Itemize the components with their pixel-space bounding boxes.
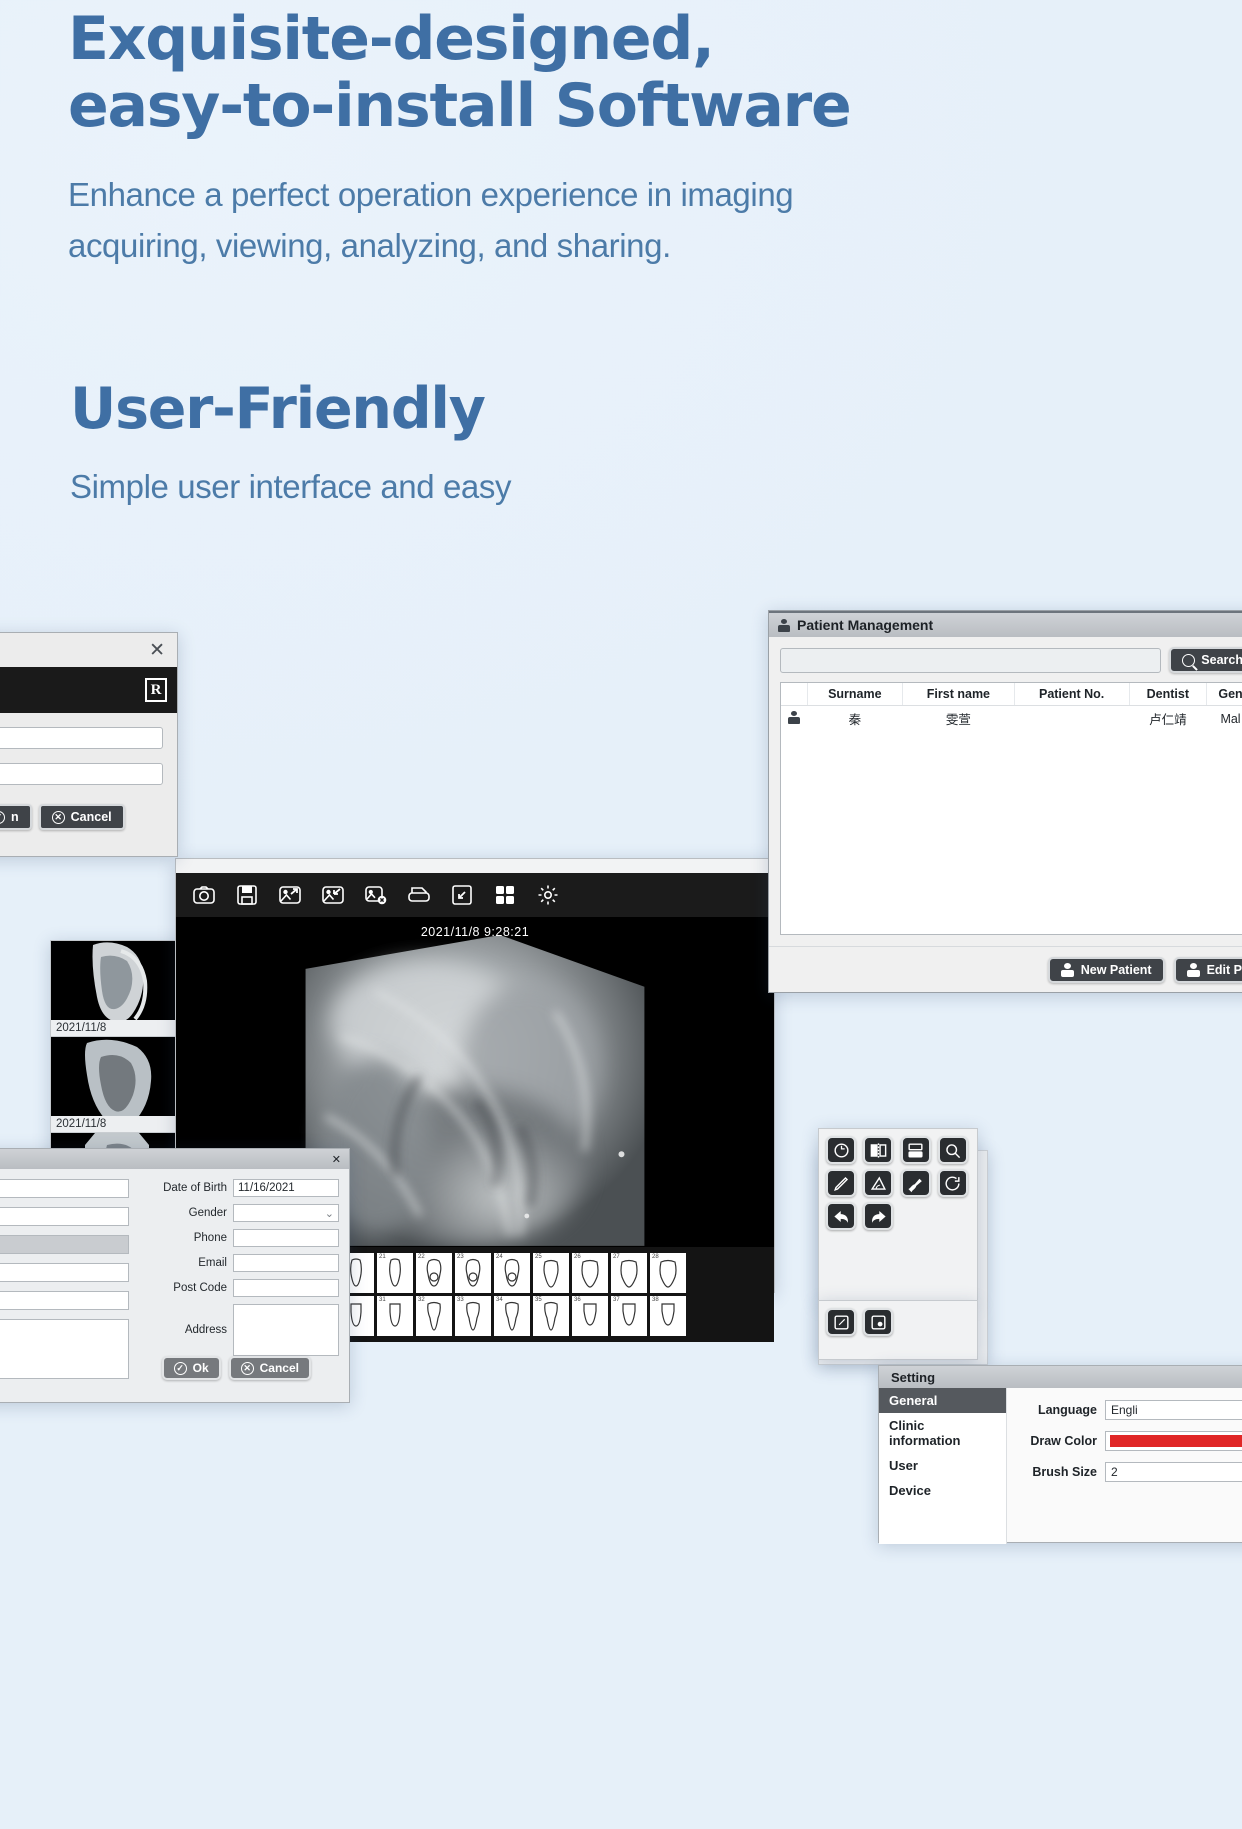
page-title-line2: easy-to-install Software [68,73,1068,140]
tooth-column[interactable]: 28 38 [650,1253,686,1336]
hero-section: Exquisite-designed, easy-to-install Soft… [68,0,1068,271]
cancel-button[interactable]: ✕ Cancel [229,1356,311,1380]
edit-patient-icon [1187,963,1201,977]
page-title-line1: Exquisite-designed, [68,6,1068,73]
undo-icon[interactable] [826,1202,856,1230]
page-title: Exquisite-designed, easy-to-install Soft… [68,0,1068,140]
image-import-icon[interactable] [321,883,345,907]
tool-grid-panel-secondary[interactable] [818,1300,978,1360]
label-phone: Phone [143,1232,227,1244]
cell-first-name: 雯萱 [903,706,1015,732]
tooth-button[interactable]: 22 [416,1253,452,1293]
patient-edit-body: Date of Birth 11/16/2021 Gender Phone Em… [0,1169,349,1379]
tooth-button[interactable]: 25 [533,1253,569,1293]
input-phone[interactable] [233,1229,339,1247]
section-heading-user-friendly: User-Friendly [70,376,485,442]
magnifier-icon [1182,654,1195,667]
person-icon [778,619,790,632]
patient-management-title: Patient Management [797,617,933,633]
pencil-icon[interactable] [826,1169,856,1197]
edit-patient-label: Edit P [1207,963,1242,977]
tooth-number: 25 [535,1254,542,1260]
col-icon [781,683,807,706]
tooth-number: 32 [418,1297,425,1303]
patient-edit-footer: ✓ Ok ✕ Cancel [162,1356,311,1380]
label-language: Language [1019,1403,1097,1417]
close-icon[interactable]: ✕ [332,1153,349,1166]
label-draw-color: Draw Color [1019,1434,1097,1448]
field-row-email: Email [143,1254,339,1272]
col-gender[interactable]: Gen [1207,683,1242,706]
patient-edit-titlebar: n ✕ [0,1149,349,1169]
brand-logo: R [145,678,167,702]
setting-title: Setting [891,1370,935,1385]
select-language[interactable]: Engli [1105,1400,1242,1420]
tooth-number: 21 [379,1254,386,1260]
patient-edit-left-column [0,1179,129,1379]
tooth-button[interactable]: 31 [377,1296,413,1336]
login-dialog-header: ✕ [0,633,177,667]
tooth-button[interactable]: 38 [650,1296,686,1336]
col-first-name[interactable]: First name [903,683,1015,706]
x-circle-icon: ✕ [241,1362,254,1375]
tooth-button[interactable]: 26 [572,1253,608,1293]
save-icon[interactable] [235,883,259,907]
left-field-1[interactable] [0,1179,129,1198]
tooth-number: 27 [613,1254,620,1260]
input-post-code[interactable] [233,1279,339,1297]
tooth-number: 23 [457,1254,464,1260]
print-icon[interactable] [407,883,431,907]
tooth-button[interactable]: 24 [494,1253,530,1293]
login-confirm-button[interactable]: ✓ n [0,804,32,830]
redo-icon[interactable] [863,1202,893,1230]
check-circle-icon: ✓ [174,1362,187,1375]
cell-patient-no [1014,706,1129,732]
login-username-input[interactable] [0,727,163,749]
search-input[interactable] [780,648,1161,673]
person-icon [788,711,800,724]
patient-table[interactable]: Surname First name Patient No. Dentist G… [780,682,1242,935]
capture-icon[interactable] [192,883,216,907]
tool-grid[interactable] [826,1136,970,1230]
tooth-button[interactable]: 32 [416,1296,452,1336]
hero-subtitle-line1: Enhance a perfect operation experience i… [68,170,1068,220]
input-email[interactable] [233,1254,339,1272]
left-field-4[interactable] [0,1263,129,1282]
input-date-of-birth[interactable]: 11/16/2021 [233,1179,339,1197]
brush-icon[interactable] [901,1169,931,1197]
label-brush-size: Brush Size [1019,1465,1097,1479]
gear-icon[interactable] [536,883,560,907]
tooth-button[interactable]: 37 [611,1296,647,1336]
setting-nav-device[interactable]: Device [879,1478,1006,1503]
check-circle-icon: ✓ [0,811,5,824]
new-patient-button[interactable]: New Patient [1048,957,1165,983]
tooth-column[interactable]: 24 34 [494,1253,530,1336]
patient-management-titlebar: Patient Management [769,611,1242,637]
tool-grid-panel[interactable] [818,1128,978,1303]
left-field-3[interactable] [0,1235,129,1254]
refresh-icon[interactable] [938,1169,968,1197]
draw-color-swatch[interactable] [1105,1431,1242,1451]
grid-layout-icon[interactable] [493,883,517,907]
search-button[interactable]: Search [1169,647,1242,673]
setting-row-draw-color: Draw Color [1019,1431,1242,1451]
new-patient-label: New Patient [1081,963,1152,977]
tooth-number: 34 [496,1297,503,1303]
rotate-90-icon[interactable] [826,1136,856,1164]
tooth-number: 22 [418,1254,425,1260]
setting-body: General Clinic information User Device L… [879,1388,1242,1544]
search-button-label: Search [1201,653,1242,667]
field-row-phone: Phone [143,1229,339,1247]
login-cancel-label: Cancel [71,810,112,824]
tooth-button[interactable]: 27 [611,1253,647,1293]
tooth-number: 35 [535,1297,542,1303]
cell-dentist: 卢仁靖 [1129,706,1206,732]
tooth-button[interactable]: 23 [455,1253,491,1293]
tooth-column[interactable]: 26 36 [572,1253,608,1336]
tooth-number: 24 [496,1254,503,1260]
setting-nav-clinic-information[interactable]: Clinic information [879,1413,1006,1453]
setting-main: Language Engli Draw Color Brush Size 2 [1007,1388,1242,1544]
setting-titlebar: Setting [879,1366,1242,1388]
field-row-post-code: Post Code [143,1279,339,1297]
magnifier-icon[interactable] [938,1136,968,1164]
cancel-button-label: Cancel [260,1361,299,1375]
setting-window[interactable]: Setting General Clinic information User … [878,1365,1242,1543]
input-brush-size[interactable]: 2 [1105,1462,1242,1482]
setting-nav[interactable]: General Clinic information User Device [879,1388,1007,1544]
close-icon[interactable]: ✕ [149,641,165,660]
tooth-button[interactable]: 35 [533,1296,569,1336]
angle-measure-icon[interactable] [863,1169,893,1197]
tooth-column[interactable]: 22 32 [416,1253,452,1336]
tool-grid-secondary[interactable] [826,1308,970,1336]
color-chip [1110,1435,1242,1447]
login-brand-band: R [0,667,177,713]
tooth-column[interactable]: 21 31 [377,1253,413,1336]
col-patient-no[interactable]: Patient No. [1014,683,1129,706]
left-field-notes[interactable] [0,1319,129,1379]
tooth-button[interactable]: 28 [650,1253,686,1293]
cell-gender: Mal [1207,706,1242,732]
tooth-button[interactable]: 21 [377,1253,413,1293]
tooth-number: 38 [652,1297,659,1303]
login-password-input[interactable] [0,763,163,785]
patient-edit-dialog[interactable]: n ✕ Date of Birth 11/16/2021 Gender Phon… [0,1148,350,1403]
edit-patient-button[interactable]: Edit P [1174,957,1242,983]
setting-nav-general[interactable]: General [879,1388,1006,1413]
add-patient-icon [1061,963,1075,977]
tooth-number: 26 [574,1254,581,1260]
tooth-column[interactable]: 25 35 [533,1253,569,1336]
patient-management-window[interactable]: Patient Management Search Surname First … [768,610,1242,993]
patient-edit-right-column: Date of Birth 11/16/2021 Gender Phone Em… [143,1179,339,1379]
image-timestamp: 2021/11/8 9:28:21 [421,925,529,939]
search-row: Search [780,647,1242,673]
tooth-column[interactable]: 27 37 [611,1253,647,1336]
field-row-dob: Date of Birth 11/16/2021 [143,1179,339,1197]
tooth-button[interactable]: 34 [494,1296,530,1336]
login-dialog[interactable]: ✕ R ✓ n ✕ Cancel [0,632,178,857]
tooth-number: 28 [652,1254,659,1260]
input-address[interactable] [233,1304,339,1356]
label-address: Address [143,1324,227,1336]
table-row[interactable]: 秦 雯萱 卢仁靖 Mal [781,706,1242,732]
row-person-icon [781,706,807,732]
flip-horizontal-icon[interactable] [863,1136,893,1164]
col-dentist[interactable]: Dentist [1129,683,1206,706]
tooth-number: 36 [574,1297,581,1303]
x-circle-icon: ✕ [52,811,65,824]
label-post-code: Post Code [143,1282,227,1294]
table-header-row: Surname First name Patient No. Dentist G… [781,683,1242,706]
annotate-icon[interactable] [826,1308,856,1336]
viewer-top-strip [176,859,774,873]
left-field-5[interactable] [0,1291,129,1310]
tooth-number: 33 [457,1297,464,1303]
login-confirm-label: n [11,810,19,824]
contrast-icon[interactable] [901,1136,931,1164]
patient-management-body: Search Surname First name Patient No. De… [769,637,1242,935]
field-row-address: Address [143,1304,339,1356]
select-gender[interactable] [233,1204,339,1222]
ok-button[interactable]: ✓ Ok [162,1356,221,1380]
label-date-of-birth: Date of Birth [143,1182,227,1194]
tooth-number: 31 [379,1297,386,1303]
left-field-2[interactable] [0,1207,129,1226]
setting-nav-user[interactable]: User [879,1453,1006,1478]
image-delete-icon[interactable] [364,883,388,907]
section-subtitle-user-friendly: Simple user interface and easy [70,468,511,506]
setting-row-language: Language Engli [1019,1400,1242,1420]
viewer-toolbar[interactable] [176,873,774,917]
setting-row-brush-size: Brush Size 2 [1019,1462,1242,1482]
ok-button-label: Ok [193,1361,209,1375]
login-cancel-button[interactable]: ✕ Cancel [39,804,125,830]
col-surname[interactable]: Surname [807,683,903,706]
label-email: Email [143,1257,227,1269]
hero-subtitle-line2: acquiring, viewing, analyzing, and shari… [68,221,1068,271]
hero-subtitle: Enhance a perfect operation experience i… [68,170,1068,270]
patient-management-footer: New Patient Edit P [769,946,1242,992]
login-dialog-footer: ✓ n ✕ Cancel [0,804,125,830]
tooth-button[interactable]: 33 [455,1296,491,1336]
cell-surname: 秦 [807,706,903,732]
tooth-button[interactable]: 36 [572,1296,608,1336]
label-gender: Gender [143,1207,227,1219]
tooth-number: 37 [613,1297,620,1303]
tooth-column[interactable]: 23 33 [455,1253,491,1336]
image-export-icon[interactable] [278,883,302,907]
fullscreen-icon[interactable] [450,883,474,907]
lock-image-icon[interactable] [863,1308,893,1336]
field-row-gender: Gender [143,1204,339,1222]
